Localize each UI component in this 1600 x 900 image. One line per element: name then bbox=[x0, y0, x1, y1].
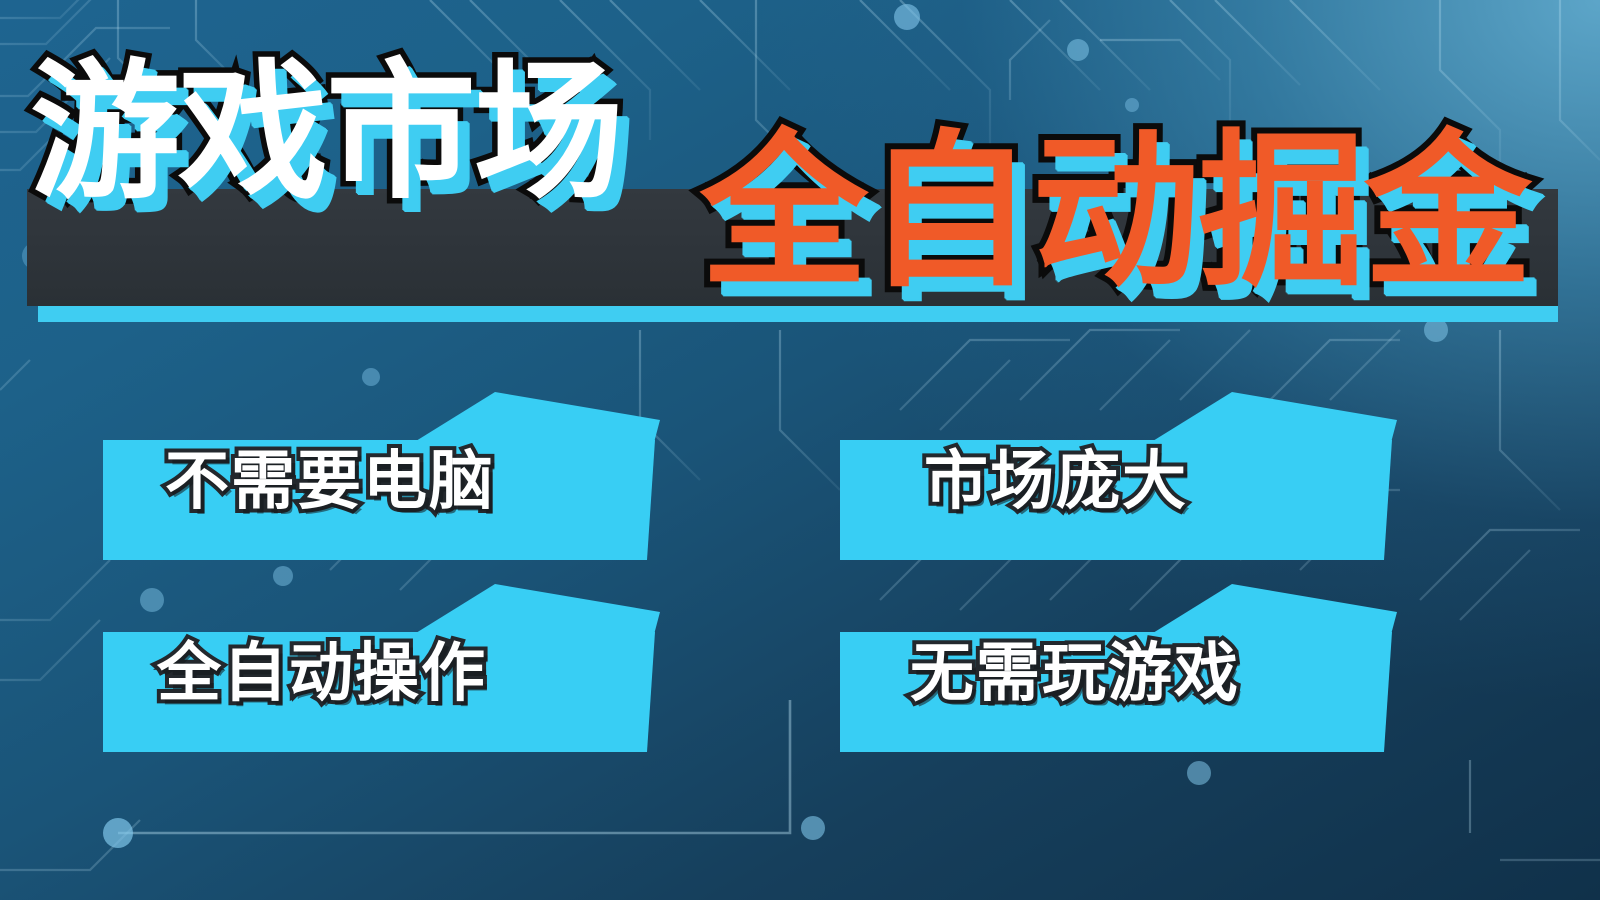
feature-banner-3[interactable]: 全自动操作 bbox=[95, 584, 675, 760]
headline-band bbox=[27, 189, 1558, 306]
headline-white-text: 游戏市场 bbox=[30, 58, 622, 208]
feature-label-1: 不需要电脑 bbox=[165, 450, 495, 514]
headline-band-underline bbox=[38, 306, 1558, 322]
poster-canvas: 游戏市场 全自动掘金 不需要电脑 市场庞大 全自动操作 无需玩游戏 bbox=[0, 0, 1600, 900]
feature-label-4: 无需玩游戏 bbox=[910, 642, 1240, 706]
feature-banner-4[interactable]: 无需玩游戏 bbox=[832, 584, 1412, 760]
feature-banner-1[interactable]: 不需要电脑 bbox=[95, 392, 675, 568]
feature-label-2: 市场庞大 bbox=[924, 450, 1188, 514]
feature-banner-2[interactable]: 市场庞大 bbox=[832, 392, 1412, 568]
feature-label-3: 全自动操作 bbox=[157, 642, 487, 706]
